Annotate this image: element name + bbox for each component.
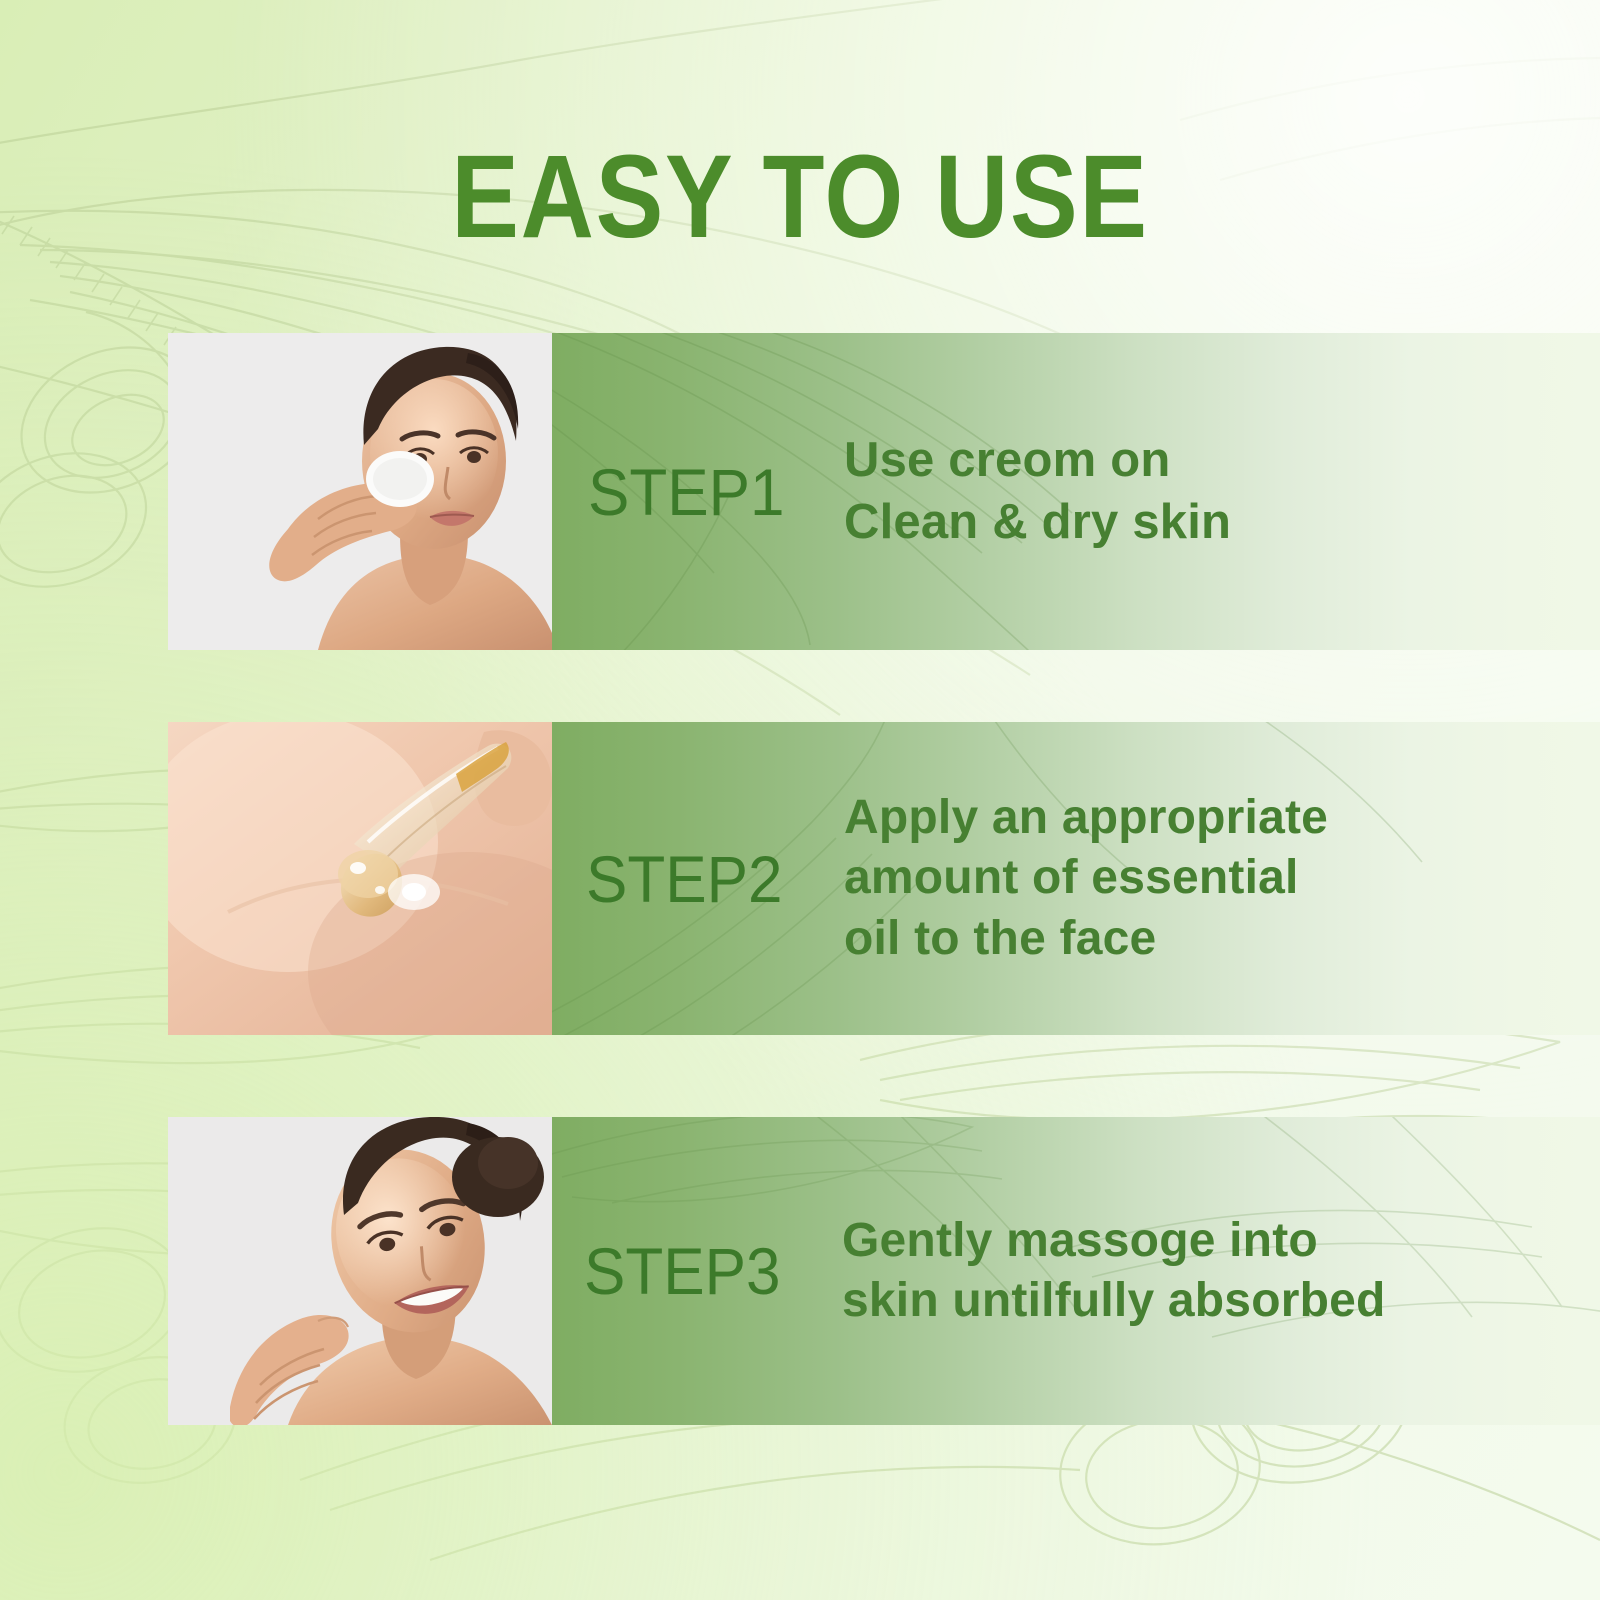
step-1-line-2: Clean & dry skin [844, 492, 1600, 554]
step-1-band: STEP1 Use creom on Clean & dry skin [552, 333, 1600, 650]
step-2-photo [168, 722, 552, 1035]
step-2-line-3: oil to the face [844, 909, 1600, 969]
step-2-text: Apply an appropriate amount of essential… [844, 788, 1600, 969]
step-3-text: Gently massoge into skin untilfully abso… [842, 1211, 1600, 1332]
step-3-photo [168, 1117, 552, 1425]
step-row-3: STEP3 Gently massoge into skin untilfull… [168, 1117, 1600, 1425]
step-row-2: STEP2 Apply an appropriate amount of ess… [168, 722, 1600, 1035]
infographic-canvas: EASY TO USE [0, 0, 1600, 1600]
step-3-band: STEP3 Gently massoge into skin untilfull… [552, 1117, 1600, 1425]
step-3-label: STEP3 [584, 1233, 821, 1309]
step-3-line-1: Gently massoge into [842, 1211, 1600, 1271]
step-3-line-2: skin untilfully absorbed [842, 1271, 1600, 1331]
step-2-band: STEP2 Apply an appropriate amount of ess… [552, 722, 1600, 1035]
step-2-line-1: Apply an appropriate [844, 788, 1600, 848]
page-title: EASY TO USE [112, 138, 1488, 256]
step-1-label: STEP1 [588, 454, 825, 530]
step-2-label: STEP2 [586, 841, 823, 917]
step-row-1: STEP1 Use creom on Clean & dry skin [168, 333, 1600, 650]
step-1-line-1: Use creom on [844, 430, 1600, 492]
step-1-text: Use creom on Clean & dry skin [844, 430, 1600, 553]
step-1-photo [168, 333, 552, 650]
step-2-line-2: amount of essential [844, 848, 1600, 908]
